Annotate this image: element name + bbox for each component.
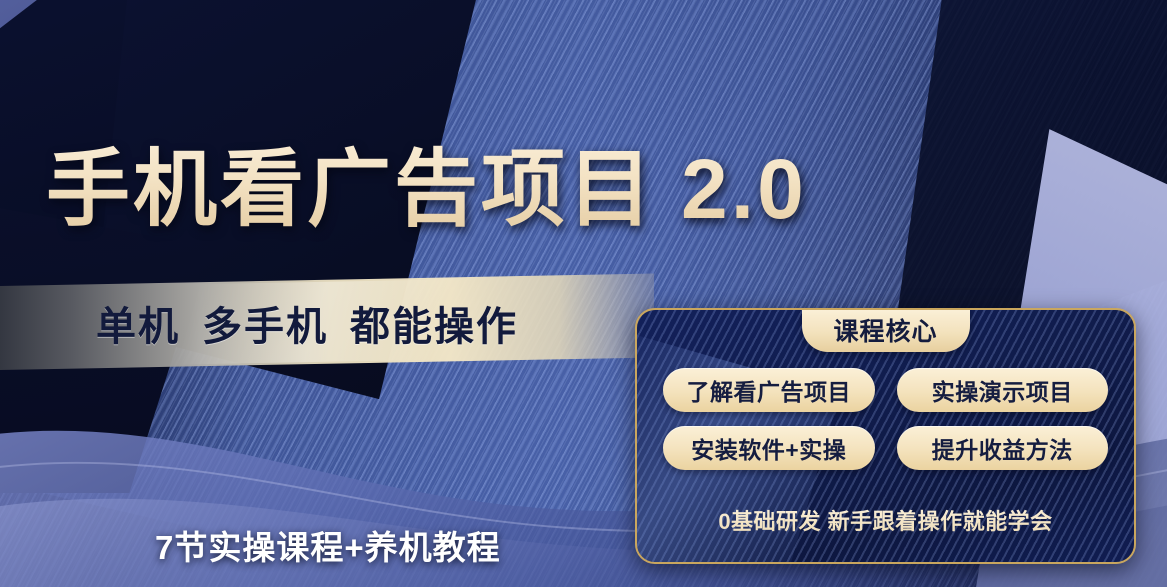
subtitle-part-2: 多手机 (202, 294, 328, 352)
page-title: 手机看广告项目2.0 (46, 122, 807, 243)
core-pill-grid: 了解看广告项目 实操演示项目 安装软件+实操 提升收益方法 (637, 368, 1134, 470)
core-pill-1[interactable]: 了解看广告项目 (663, 368, 875, 412)
core-pill-3[interactable]: 安装软件+实操 (663, 426, 875, 470)
subtitle-text: 单机 多手机 都能操作 (96, 292, 636, 354)
title-version-text: 2.0 (681, 142, 807, 236)
bottom-note-text: 7节实操课程+养机教程 (155, 521, 501, 569)
subtitle-part-3: 都能操作 (350, 294, 518, 352)
course-core-card: 课程核心 了解看广告项目 实操演示项目 安装软件+实操 提升收益方法 0基础研发… (635, 308, 1136, 564)
title-main-text: 手机看广告项目 (46, 142, 655, 236)
promo-poster: 手机看广告项目2.0 单机 多手机 都能操作 7节实操课程+养机教程 课程核心 … (0, 0, 1167, 587)
card-footer-text: 0基础研发 新手跟着操作就能学会 (637, 504, 1134, 536)
subtitle-part-1: 单机 (96, 294, 180, 352)
card-tab-title: 课程核心 (802, 308, 970, 352)
core-pill-2[interactable]: 实操演示项目 (897, 368, 1109, 412)
core-pill-4[interactable]: 提升收益方法 (897, 426, 1109, 470)
